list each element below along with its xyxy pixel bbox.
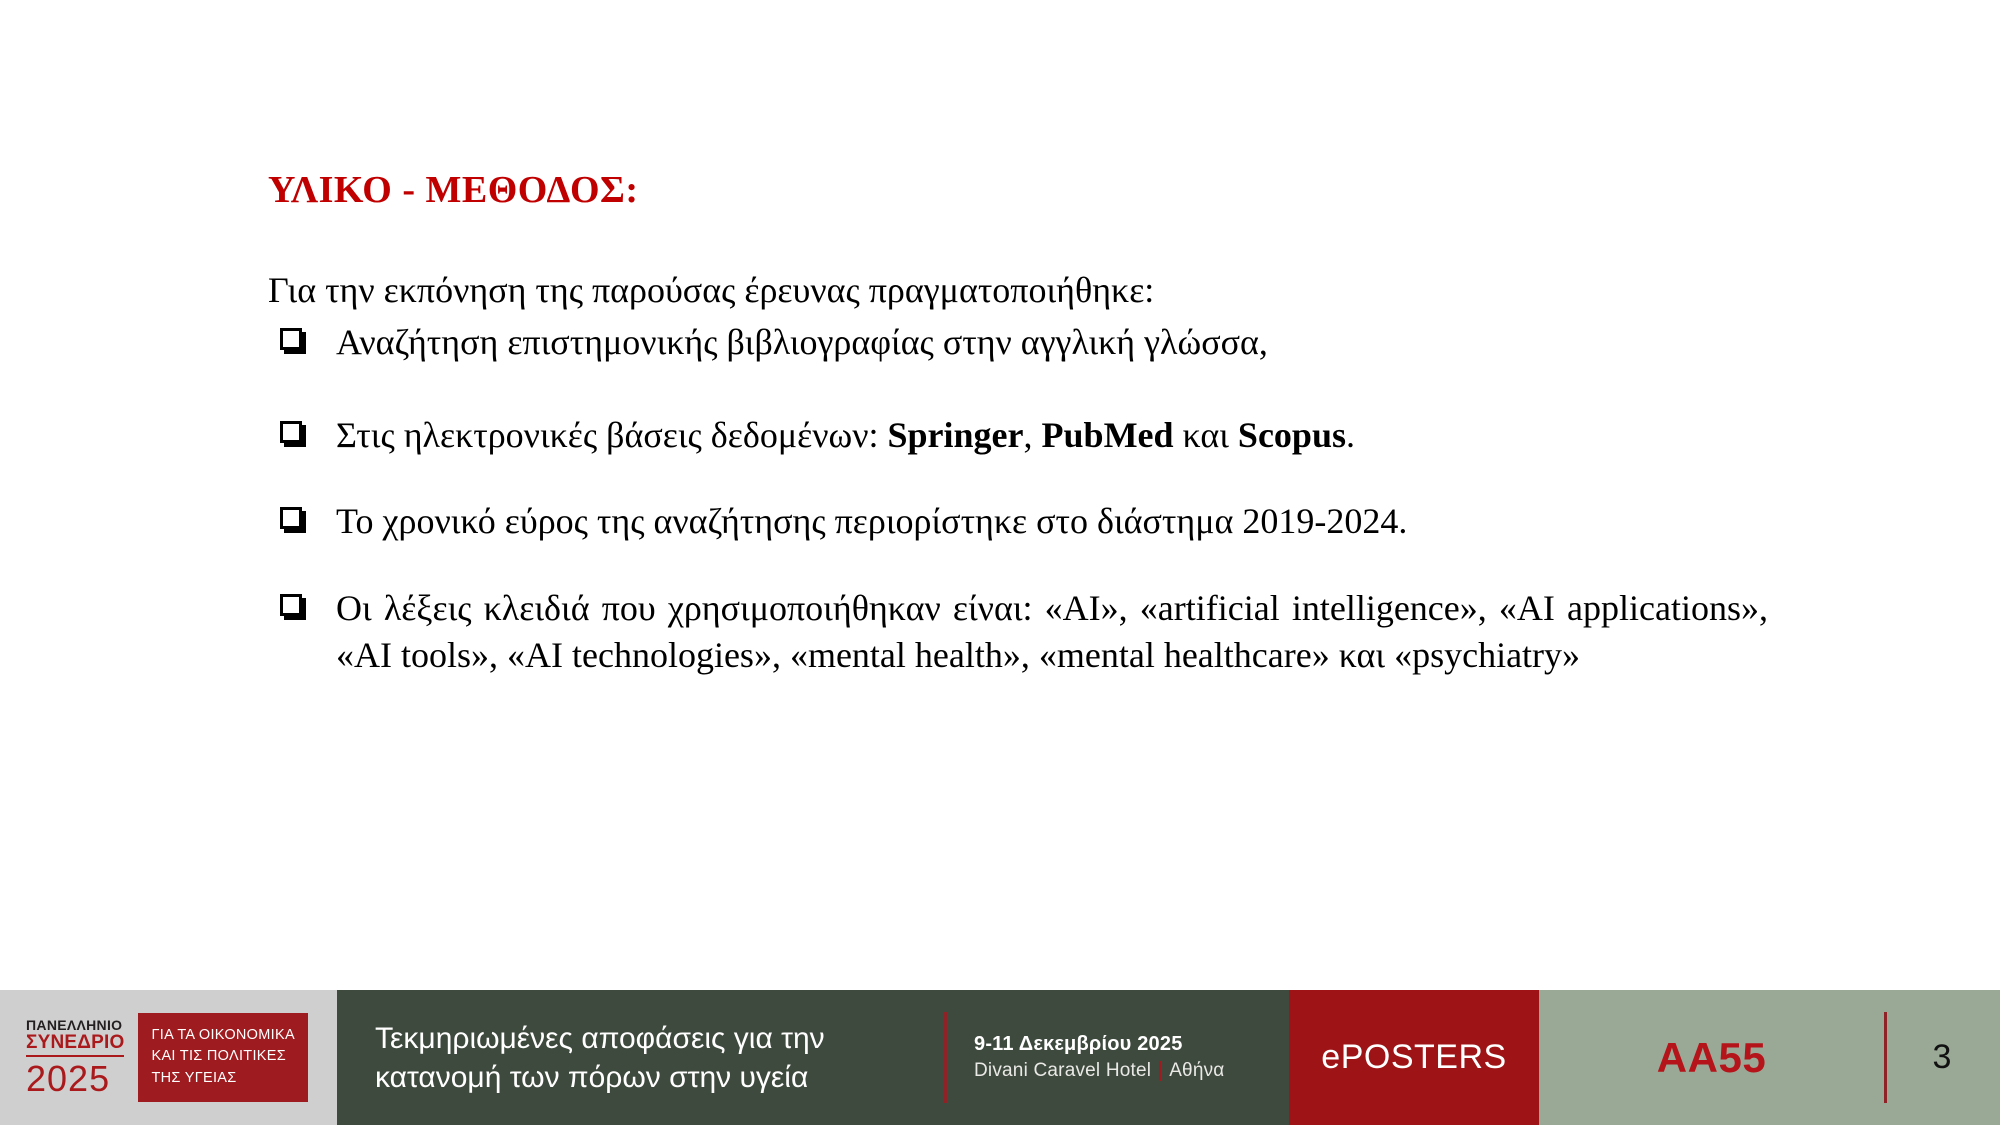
list-item: Οι λέξεις κλειδιά που χρησιμοποιήθηκαν ε…	[268, 585, 1768, 679]
event-city: Αθήνα	[1169, 1060, 1224, 1082]
eposters-badge: ePOSTERS	[1289, 990, 1539, 1125]
tagline-line-1: Τεκμηριωμένες αποφάσεις για την	[375, 1019, 825, 1058]
logo-line-1: ΠΑΝΕΛΛΗΝΙΟ	[26, 1018, 124, 1032]
date-divider	[944, 1012, 947, 1103]
logo-year: 2025	[26, 1061, 124, 1097]
page-title: ΥΛΙΚΟ - ΜΕΘΟΔΟΣ:	[268, 170, 1768, 212]
logo-line-2: ΣΥΝΕΔΡΙΟ	[26, 1033, 124, 1057]
tagline-line-2: κατανομή των πόρων στην υγεία	[375, 1058, 825, 1097]
event-venue: Divani Caravel Hotel	[974, 1060, 1151, 1082]
eposters-label: ePOSTERS	[1321, 1038, 1506, 1077]
list-item-text: Οι λέξεις κλειδιά που χρησιμοποιήθηκαν ε…	[336, 588, 1768, 675]
checkbox-bullet-icon	[280, 421, 302, 443]
list-item: Το χρονικό εύρος της αναζήτησης περιορίσ…	[268, 498, 1768, 545]
page-number: 3	[1933, 1038, 1952, 1077]
slide-footer: ΠΑΝΕΛΛΗΝΙΟ ΣΥΝΕΔΡΙΟ 2025 ΓΙΑ ΤΑ ΟΙΚΟΝΟΜΙ…	[0, 990, 2000, 1125]
intro-text: Για την εκπόνηση της παρούσας έρευνας πρ…	[268, 268, 1768, 313]
checkbox-bullet-icon	[280, 507, 302, 529]
list-item-text: Στις ηλεκτρονικές βάσεις δεδομένων: Spri…	[336, 415, 1355, 455]
poster-code-block: AA55	[1539, 990, 1884, 1125]
event-dates: 9-11 Δεκεμβρίου 2025	[974, 1033, 1224, 1056]
conference-logo: ΠΑΝΕΛΛΗΝΙΟ ΣΥΝΕΔΡΙΟ 2025	[26, 1018, 124, 1097]
checkbox-bullet-icon	[280, 328, 302, 350]
slide-content: ΥΛΙΚΟ - ΜΕΘΟΔΟΣ: Για την εκπόνηση της πα…	[268, 170, 1768, 719]
slide: ΥΛΙΚΟ - ΜΕΘΟΔΟΣ: Για την εκπόνηση της πα…	[0, 0, 2000, 1125]
footer-logos: ΠΑΝΕΛΛΗΝΙΟ ΣΥΝΕΔΡΙΟ 2025 ΓΙΑ ΤΑ ΟΙΚΟΝΟΜΙ…	[0, 990, 337, 1125]
checkbox-bullet-icon	[280, 594, 302, 616]
page-divider	[1884, 1012, 1887, 1103]
bullet-list: Αναζήτηση επιστημονικής βιβλιογραφίας στ…	[268, 319, 1768, 679]
conference-subject-box: ΓΙΑ ΤΑ ΟΙΚΟΝΟΜΙΚΑ ΚΑΙ ΤΙΣ ΠΟΛΙΤΙΚΕΣ ΤΗΣ …	[138, 1013, 307, 1101]
footer-tagline: Τεκμηριωμένες αποφάσεις για την κατανομή…	[337, 990, 944, 1125]
list-item: Αναζήτηση επιστημονικής βιβλιογραφίας στ…	[268, 319, 1768, 366]
page-number-block: 3	[1884, 990, 2000, 1125]
list-item-text: Αναζήτηση επιστημονικής βιβλιογραφίας στ…	[336, 322, 1268, 362]
status-badge: AA55	[1657, 1034, 1766, 1082]
list-item: Στις ηλεκτρονικές βάσεις δεδομένων: Spri…	[268, 412, 1768, 459]
list-item-text: Το χρονικό εύρος της αναζήτησης περιορίσ…	[336, 501, 1407, 541]
venue-city-separator	[1159, 1061, 1161, 1081]
subject-line-3: ΤΗΣ ΥΓΕΙΑΣ	[151, 1068, 294, 1089]
subject-line-2: ΚΑΙ ΤΙΣ ΠΟΛΙΤΙΚΕΣ	[151, 1046, 294, 1067]
footer-date-block: 9-11 Δεκεμβρίου 2025 Divani Caravel Hote…	[944, 990, 1289, 1125]
subject-line-1: ΓΙΑ ΤΑ ΟΙΚΟΝΟΜΙΚΑ	[151, 1025, 294, 1046]
